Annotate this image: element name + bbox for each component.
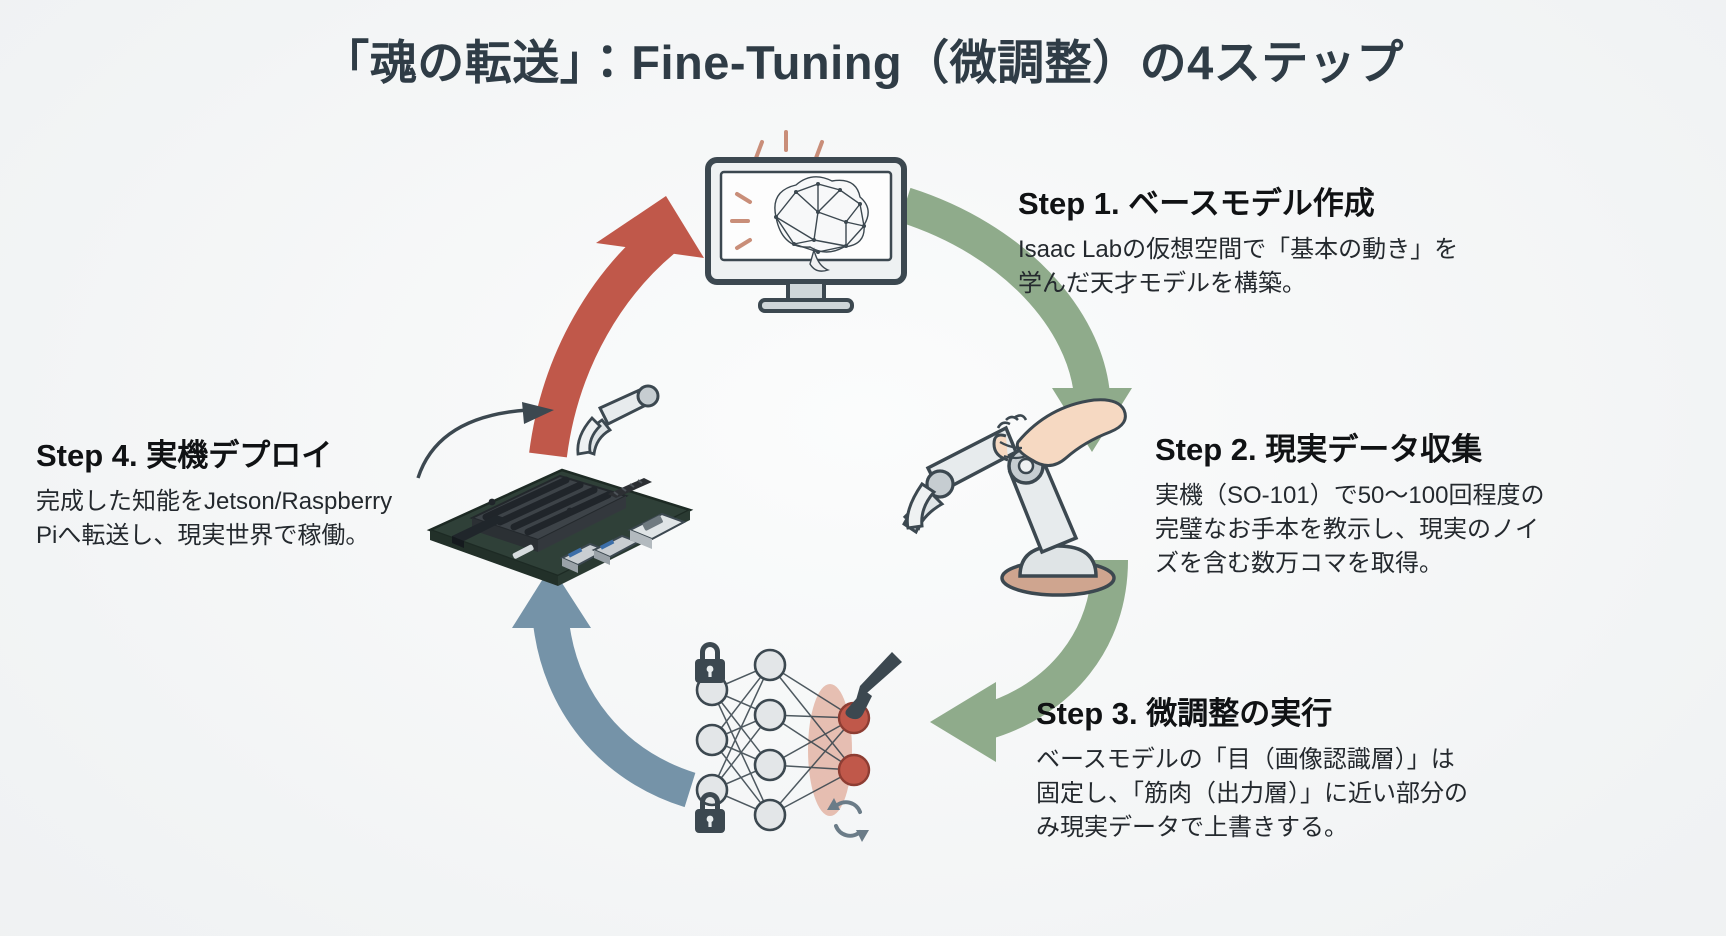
step-1-body: Isaac Labの仮想空間で「基本の動き」を 学んだ天才モデルを構築。 [1018, 233, 1538, 301]
step-2-heading: Step 2. 現実データ収集 [1155, 424, 1675, 469]
monitor-brain-icon [690, 122, 920, 322]
step-1-heading: Step 1. ベースモデル作成 [1018, 178, 1538, 223]
step-4-body-line-1: 完成した知能をJetson/Raspberry [36, 485, 466, 519]
step-3-heading: Step 3. 微調整の実行 [1036, 688, 1556, 733]
step-2-body-line-1: 実機（SO-101）で50〜100回程度の [1155, 479, 1675, 513]
step-3-block: Step 3. 微調整の実行 ベースモデルの「目（画像認識層）」は 固定し、「筋… [1036, 688, 1556, 845]
step-4-block: Step 4. 実機デプロイ 完成した知能をJetson/Raspberry P… [36, 430, 466, 553]
step-2-body: 実機（SO-101）で50〜100回程度の 完璧なお手本を教示し、現実のノイ ズ… [1155, 479, 1675, 581]
step-2-block: Step 2. 現実データ収集 実機（SO-101）で50〜100回程度の 完璧… [1155, 424, 1675, 581]
lock-icon-top [695, 642, 725, 683]
robot-arm-hand-icon [900, 380, 1160, 605]
paintbrush-icon [845, 652, 902, 719]
step-1-block: Step 1. ベースモデル作成 Isaac Labの仮想空間で「基本の動き」を… [1018, 178, 1538, 301]
step-3-body-line-1: ベースモデルの「目（画像認識層）」は [1036, 743, 1556, 777]
step-3-body-line-3: み現実データで上書きする。 [1036, 811, 1556, 845]
retrain-highlight [808, 684, 852, 816]
step-1-body-line-2: 学んだ天才モデルを構築。 [1018, 267, 1538, 301]
step-4-body-line-2: Piへ転送し、現実世界で稼働。 [36, 519, 466, 553]
mini-robot-arm-icon [578, 386, 658, 454]
neural-network-icon [678, 630, 908, 845]
infographic-canvas: 「魂の転送」：Fine-Tuning（微調整）の4ステップ [0, 0, 1726, 936]
refresh-icon [827, 798, 869, 842]
step-1-body-line-1: Isaac Labの仮想空間で「基本の動き」を [1018, 233, 1538, 267]
step-4-body: 完成した知能をJetson/Raspberry Piへ転送し、現実世界で稼働。 [36, 485, 466, 553]
step-4-heading: Step 4. 実機デプロイ [36, 430, 466, 475]
step-3-body: ベースモデルの「目（画像認識層）」は 固定し、「筋肉（出力層）」に近い部分の み… [1036, 743, 1556, 845]
step-3-body-line-2: 固定し、「筋肉（出力層）」に近い部分の [1036, 777, 1556, 811]
step-2-body-line-3: ズを含む数万コマを取得。 [1155, 547, 1675, 581]
arrow-step3-to-step4 [512, 566, 690, 790]
step-2-body-line-2: 完璧なお手本を教示し、現実のノイ [1155, 513, 1675, 547]
